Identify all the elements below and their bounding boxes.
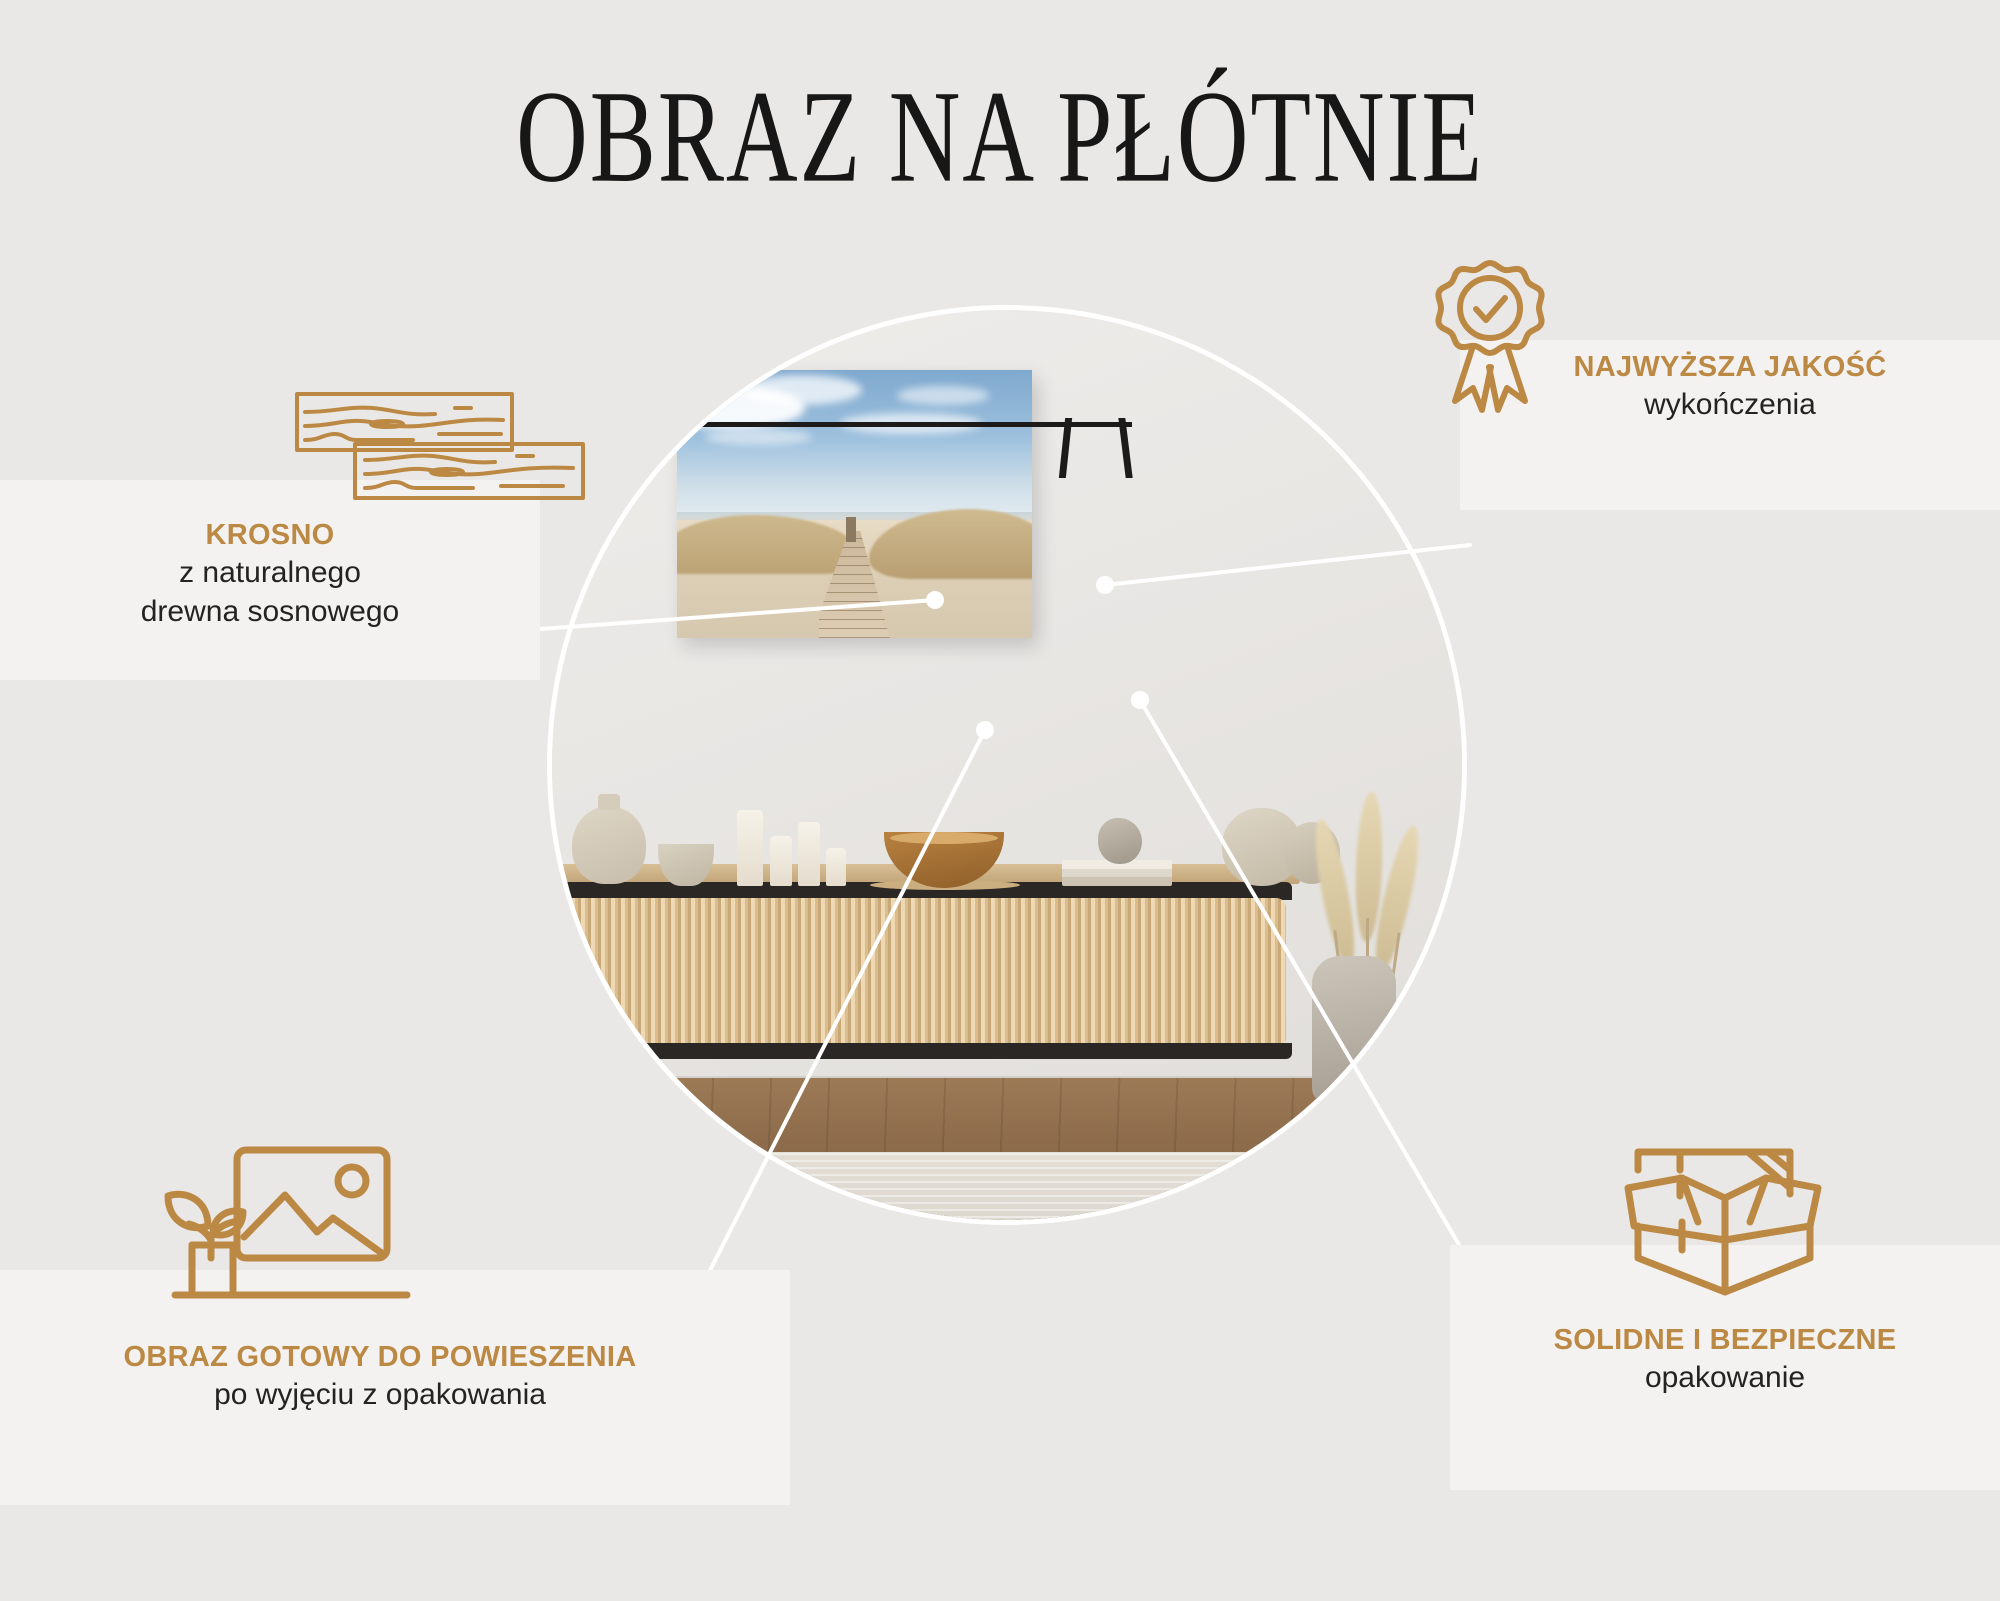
quality-badge-icon bbox=[1425, 255, 1555, 430]
room-preview-circle bbox=[552, 310, 1462, 1220]
canvas-artwork bbox=[677, 370, 1032, 638]
feature-subtitle-gotowy: po wyjęciu z opakowania bbox=[0, 1375, 760, 1414]
feature-heading-opakowanie: SOLIDNE I BEZPIECZNE bbox=[1450, 1323, 2000, 1358]
feature-heading-gotowy: OBRAZ GOTOWY DO POWIESZENIA bbox=[0, 1340, 760, 1375]
area-rug bbox=[552, 1152, 1462, 1220]
infographic-canvas: OBRAZ NA PŁÓTNIE bbox=[0, 0, 2000, 1601]
sideboard bbox=[552, 880, 1292, 1070]
feature-panel-krosno: KROSNO z naturalnego drewna sosnowego bbox=[0, 480, 540, 680]
feature-subtitle-krosno-line1: z naturalnego bbox=[0, 553, 540, 592]
artwork-post bbox=[846, 517, 857, 541]
candle bbox=[737, 810, 763, 886]
candle bbox=[770, 836, 792, 886]
interior-scene bbox=[552, 310, 1462, 1220]
framed-picture-plant-icon bbox=[145, 1140, 415, 1335]
candle bbox=[826, 848, 846, 886]
candle bbox=[798, 822, 820, 886]
feature-heading-krosno: KROSNO bbox=[0, 518, 540, 553]
page-title: OBRAZ NA PŁÓTNIE bbox=[80, 72, 1920, 204]
feature-subtitle-krosno-line2: drewna sosnowego bbox=[0, 592, 540, 631]
ceramic-vase bbox=[572, 806, 646, 884]
open-box-icon bbox=[1620, 1122, 1830, 1307]
feature-subtitle-opakowanie: opakowanie bbox=[1450, 1358, 2000, 1397]
floor-vase bbox=[1312, 956, 1396, 1104]
stone-sculpture bbox=[1098, 818, 1142, 864]
wood-planks-icon bbox=[295, 390, 585, 505]
